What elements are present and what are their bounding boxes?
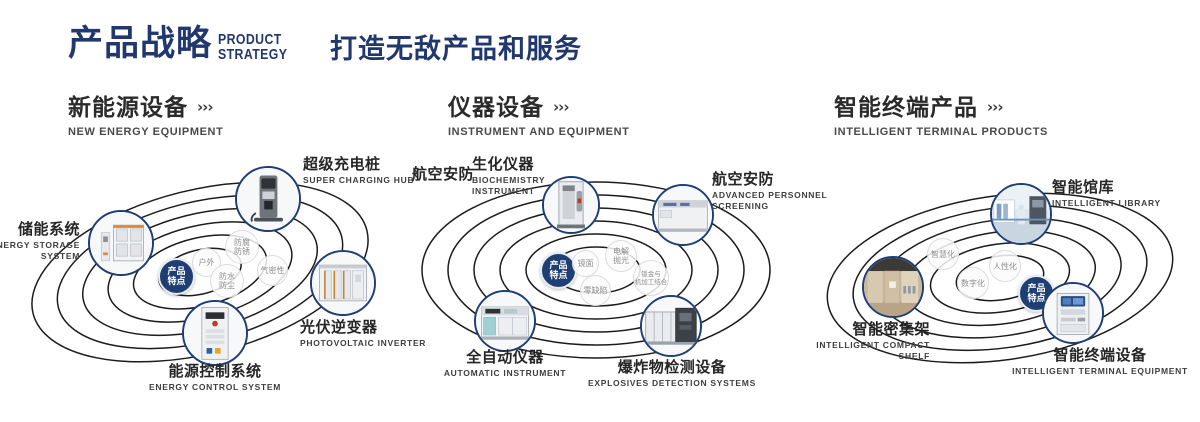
page-subtitle: 打造无敌产品和服务	[330, 36, 582, 63]
control-cabinet-icon	[184, 302, 246, 364]
diagram-intelligent-terminal: 产品特点 智慧化 数字化 人性化 智能馆库 INTELLIGENT LIB	[800, 150, 1200, 410]
poster-header: 产品战略 PRODUCT STRATEGY 打造无敌产品和服务	[0, 0, 1200, 86]
library-photo-icon	[992, 185, 1050, 243]
diagram-new-energy: 产品特点 户外 防腐 防锈 防水 防尘 气密性 储能系统 ENERGY STOR…	[0, 150, 400, 410]
page-title-english-line1: PRODUCT	[218, 32, 287, 47]
label-cn: 生化仪器	[472, 155, 602, 173]
core-badge-text: 产品特点	[167, 267, 185, 287]
label-intelligent-library: 智能馆库 INTELLIGENT LIBRARY	[1052, 178, 1200, 209]
automatic-analyzer-icon	[476, 292, 534, 350]
chevrons-right-icon: ›››	[987, 94, 1003, 120]
label-energy-control-system: 能源控制系统 ENERGY CONTROL SYSTEM	[95, 362, 335, 393]
page-title-english-line2: STRATEGY	[218, 47, 287, 62]
feature-bubble-anticorrosion: 防腐 防锈	[225, 230, 259, 264]
label-en: INTELLIGENT COMPACT SHELF	[770, 340, 930, 362]
core-badge-line2: 特点	[549, 271, 567, 281]
energy-storage-cabinet-icon	[90, 212, 152, 274]
core-badge-line1: 产品	[167, 267, 185, 277]
core-badge-text: 产品特点	[1027, 284, 1045, 304]
node-advanced-personnel-screening[interactable]	[652, 184, 714, 246]
label-en: INTELLIGENT LIBRARY	[1052, 198, 1200, 209]
terminal-kiosk-icon	[1044, 284, 1102, 342]
feature-bubble-waterproof: 防水 防尘	[210, 264, 244, 298]
node-explosives-detection-systems[interactable]	[640, 295, 702, 357]
section-heading-en: INSTRUMENT AND EQUIPMENT	[448, 126, 629, 138]
screening-machine-icon	[654, 186, 712, 244]
core-badge-line1: 产品	[1027, 284, 1045, 294]
charging-pile-icon	[237, 168, 299, 230]
explosives-detector-icon	[642, 297, 700, 355]
label-cn: 爆炸物检测设备	[572, 358, 772, 376]
compact-shelf-photo-icon	[864, 258, 922, 316]
section-heading-cn-text: 智能终端产品	[834, 95, 978, 121]
core-badge-product-features: 产品特点	[158, 258, 195, 295]
core-badge-product-features: 产品特点	[540, 252, 577, 289]
section-heading-cn: 智能终端产品›››	[834, 94, 1048, 121]
label-en: ENERGY STORAGE SYSTEM	[0, 240, 80, 262]
diagram-instrument: 产品特点 镜面 电解 抛光 零缺陷 钣金与 机加工结合 航空安防 生化仪器 BI…	[400, 150, 800, 410]
label-en: EXPLOSIVES DETECTION SYSTEMS	[572, 378, 772, 389]
feature-bubble-electropolishing: 电解 抛光	[605, 240, 637, 272]
feature-bubble-zero-defect: 零缺陷	[580, 275, 611, 306]
pv-inverter-icon	[312, 252, 374, 314]
label-en: ENERGY CONTROL SYSTEM	[95, 382, 335, 393]
chevrons-right-icon: ›››	[197, 94, 213, 120]
section-heading-cn: 仪器设备›››	[448, 94, 629, 121]
label-en: INTELLIGENT TERMINAL EQUIPMENT	[990, 366, 1200, 377]
feature-bubble-airtight: 气密性	[257, 255, 288, 286]
feature-bubble-sheetmetal-machining: 钣金与 机加工结合	[633, 260, 669, 296]
section-heading-cn-text: 仪器设备	[448, 95, 544, 121]
node-super-charging-hub[interactable]	[235, 166, 301, 232]
page-title: 产品战略	[68, 27, 212, 62]
node-intelligent-terminal-equipment[interactable]	[1042, 282, 1104, 344]
chevrons-right-icon: ›››	[553, 94, 569, 120]
feature-bubble-mirror-finish: 镜面	[572, 250, 599, 277]
feature-bubble-humanized: 人性化	[989, 250, 1021, 282]
label-intelligent-terminal-equipment: 智能终端设备 INTELLIGENT TERMINAL EQUIPMENT	[990, 346, 1200, 377]
section-heading-en: NEW ENERGY EQUIPMENT	[68, 126, 223, 138]
feature-bubble-digital: 数字化	[957, 267, 989, 299]
section-heading-intelligent-terminal: 智能终端产品››› INTELLIGENT TERMINAL PRODUCTS	[834, 94, 1048, 138]
section-heading-en: INTELLIGENT TERMINAL PRODUCTS	[834, 126, 1048, 138]
label-automatic-instrument: 全自动仪器 AUTOMATIC INSTRUMENT	[425, 348, 585, 379]
product-strategy-poster: 产品战略 PRODUCT STRATEGY 打造无敌产品和服务 新能源设备›››…	[0, 0, 1200, 422]
node-intelligent-library[interactable]	[990, 183, 1052, 245]
node-automatic-instrument[interactable]	[474, 290, 536, 352]
node-energy-control-system[interactable]	[182, 300, 248, 366]
section-heading-cn-text: 新能源设备	[68, 95, 188, 121]
node-photovoltaic-inverter[interactable]	[310, 250, 376, 316]
node-energy-storage-system[interactable]	[88, 210, 154, 276]
feature-bubble-smart: 智慧化	[927, 238, 959, 270]
section-heading-cn: 新能源设备›››	[68, 94, 223, 121]
label-cn: 智能终端设备	[990, 346, 1200, 364]
label-cn: 全自动仪器	[425, 348, 585, 366]
label-explosives-detection-systems: 爆炸物检测设备 EXPLOSIVES DETECTION SYSTEMS	[572, 358, 772, 389]
label-en: AUTOMATIC INSTRUMENT	[425, 368, 585, 379]
label-cn: 储能系统	[0, 220, 80, 238]
label-energy-storage-system: 储能系统 ENERGY STORAGE SYSTEM	[0, 220, 80, 262]
page-title-english: PRODUCT STRATEGY	[218, 32, 287, 62]
core-badge-text: 产品特点	[549, 261, 567, 281]
core-badge-line2: 特点	[167, 277, 185, 287]
node-intelligent-compact-shelf[interactable]	[862, 256, 924, 318]
label-cn: 智能馆库	[1052, 178, 1200, 196]
core-badge-line1: 产品	[549, 261, 567, 271]
label-biochemistry-instrument: 生化仪器 BIOCHEMISTRY INSTRUMENT	[472, 155, 602, 197]
label-intelligent-compact-shelf: 智能密集架 INTELLIGENT COMPACT SHELF	[770, 320, 930, 362]
section-heading-new-energy: 新能源设备››› NEW ENERGY EQUIPMENT	[68, 94, 223, 138]
section-heading-instrument: 仪器设备››› INSTRUMENT AND EQUIPMENT	[448, 94, 629, 138]
label-en: BIOCHEMISTRY INSTRUMENT	[472, 175, 602, 197]
label-cn: 能源控制系统	[95, 362, 335, 380]
label-cn: 智能密集架	[770, 320, 930, 338]
